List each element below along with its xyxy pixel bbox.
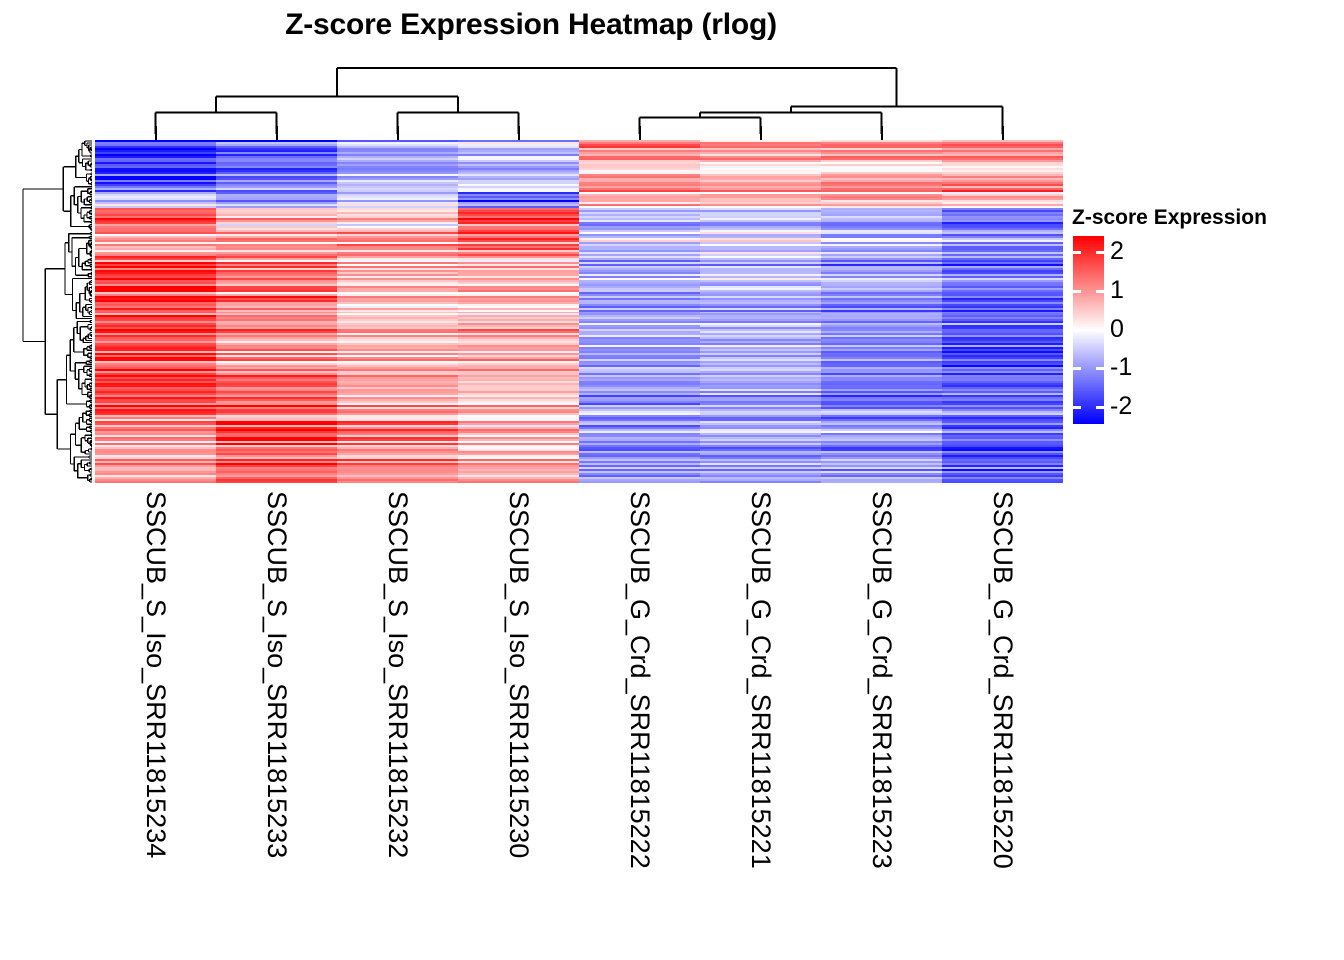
legend-tick-label: 1 xyxy=(1110,278,1124,303)
page-title: Z-score Expression Heatmap (rlog) xyxy=(0,8,1062,42)
legend-tick-mark xyxy=(1096,406,1104,409)
legend-tick-mark xyxy=(1073,329,1081,332)
column-label: SSCUB_G_Crd_SRR11815221 xyxy=(750,491,772,951)
column-tick-marks xyxy=(95,126,1063,140)
legend-tick-mark xyxy=(1096,367,1104,370)
legend-tick-mark xyxy=(1073,290,1081,293)
heatmap-figure: Z-score Expression Heatmap (rlog) SSCUB_… xyxy=(0,0,1344,960)
legend-tick-mark xyxy=(1073,367,1081,370)
column-tick xyxy=(518,126,520,140)
column-labels: SSCUB_S_Iso_SRR11815234SSCUB_S_Iso_SRR11… xyxy=(95,483,1063,943)
heatmap-canvas xyxy=(95,140,1063,483)
legend-colorbar xyxy=(1073,236,1104,424)
column-tick xyxy=(397,126,399,140)
column-label: SSCUB_S_Iso_SRR11815230 xyxy=(508,491,530,951)
column-tick xyxy=(276,126,278,140)
legend-tick-label: 0 xyxy=(1110,317,1124,342)
column-label: SSCUB_S_Iso_SRR11815234 xyxy=(145,491,167,951)
heatmap-matrix xyxy=(95,140,1063,483)
column-tick xyxy=(881,126,883,140)
column-tick xyxy=(155,126,157,140)
column-label: SSCUB_S_Iso_SRR11815232 xyxy=(387,491,409,951)
column-dendrogram xyxy=(95,56,1063,134)
colorbar-legend: Z-score Expression 210-1-2 xyxy=(1070,206,1344,428)
legend-tick-label: 2 xyxy=(1110,239,1124,264)
legend-tick-label: -1 xyxy=(1110,355,1132,380)
column-label: SSCUB_G_Crd_SRR11815220 xyxy=(992,491,1014,951)
legend-tick-mark xyxy=(1096,290,1104,293)
legend-tick-mark xyxy=(1096,251,1104,254)
column-tick xyxy=(760,126,762,140)
column-tick xyxy=(639,126,641,140)
row-dendrogram xyxy=(20,140,92,483)
legend-title: Z-score Expression xyxy=(1072,206,1267,230)
column-label: SSCUB_S_Iso_SRR11815233 xyxy=(266,491,288,951)
legend-tick-mark xyxy=(1073,406,1081,409)
legend-tick-mark xyxy=(1073,251,1081,254)
legend-tick-mark xyxy=(1096,329,1104,332)
column-label: SSCUB_G_Crd_SRR11815223 xyxy=(871,491,893,951)
column-label: SSCUB_G_Crd_SRR11815222 xyxy=(629,491,651,951)
legend-tick-label: -2 xyxy=(1110,394,1132,419)
column-tick xyxy=(1002,126,1004,140)
